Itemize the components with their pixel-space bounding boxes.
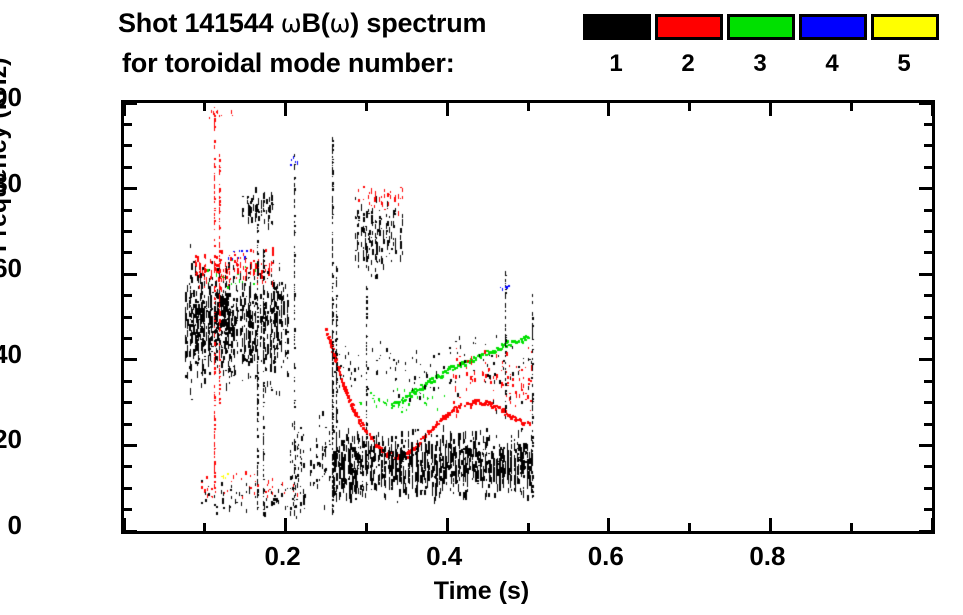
x-tick-minor — [850, 523, 853, 531]
y-tick-minor — [924, 123, 932, 126]
y-tick-label-20: 20 — [0, 424, 22, 455]
y-tick-minor — [124, 123, 132, 126]
title-shot-text: Shot 141544 — [118, 8, 281, 38]
x-tick-major-0.6 — [607, 518, 610, 531]
y-tick-major-0 — [124, 530, 137, 533]
figure-title-line-2: for toroidal mode number: — [122, 48, 455, 79]
title-spectrum-text: ) spectrum — [350, 8, 486, 38]
y-tick-major-20 — [124, 444, 137, 447]
y-tick-minor — [924, 401, 932, 404]
legend-swatch-4 — [799, 14, 867, 40]
y-tick-minor — [124, 337, 132, 340]
spectrogram-figure: Shot 141544 ωB(ω) spectrum for toroidal … — [0, 0, 963, 615]
y-tick-minor — [924, 337, 932, 340]
legend-swatch-1 — [583, 14, 651, 40]
x-tick-major-0.8 — [769, 518, 772, 531]
x-tick-minor — [365, 103, 368, 111]
x-tick-major-0 — [123, 518, 126, 531]
y-tick-label-40: 40 — [0, 339, 22, 370]
y-tick-minor — [124, 401, 132, 404]
legend-item-4: 4 — [799, 14, 867, 40]
x-tick-label-0.4: 0.4 — [394, 541, 494, 572]
legend-label-4: 4 — [798, 50, 866, 78]
y-tick-major-40 — [124, 358, 137, 361]
legend-label-1: 1 — [582, 50, 650, 78]
y-tick-minor — [924, 230, 932, 233]
x-tick-major-0.2 — [284, 103, 287, 116]
y-tick-minor — [924, 487, 932, 490]
y-tick-major-80 — [124, 187, 137, 190]
legend-swatch-5 — [871, 14, 939, 40]
legend-label-2: 2 — [654, 50, 722, 78]
x-axis-title: Time (s) — [0, 577, 963, 606]
y-tick-minor — [924, 316, 932, 319]
y-tick-minor — [124, 487, 132, 490]
y-tick-minor — [124, 294, 132, 297]
x-tick-major-0.4 — [446, 103, 449, 116]
y-tick-label-0: 0 — [8, 510, 22, 541]
y-tick-minor — [924, 251, 932, 254]
y-tick-minor — [924, 294, 932, 297]
y-tick-label-100: 100 — [0, 82, 22, 113]
title-b-open: B( — [301, 8, 329, 38]
y-tick-label-80: 80 — [0, 168, 22, 199]
x-tick-minor — [688, 523, 691, 531]
y-tick-major-100 — [124, 102, 137, 105]
x-tick-major-1 — [931, 103, 934, 116]
y-tick-minor — [124, 166, 132, 169]
x-tick-minor — [850, 103, 853, 111]
x-tick-major-0.4 — [446, 518, 449, 531]
x-tick-label-0.2: 0.2 — [233, 541, 333, 572]
y-tick-major-40 — [919, 358, 932, 361]
x-tick-minor — [527, 523, 530, 531]
legend-label-3: 3 — [726, 50, 794, 78]
legend-swatch-3 — [727, 14, 795, 40]
plot-area — [121, 100, 935, 534]
y-tick-minor — [124, 423, 132, 426]
omega-symbol-1: ω — [281, 9, 302, 38]
x-tick-minor — [527, 103, 530, 111]
legend-item-5: 5 — [871, 14, 939, 40]
y-tick-minor — [924, 423, 932, 426]
x-tick-label-0.8: 0.8 — [717, 541, 817, 572]
legend-item-1: 1 — [583, 14, 651, 40]
y-tick-minor — [124, 380, 132, 383]
y-tick-minor — [124, 465, 132, 468]
omega-symbol-2: ω — [330, 9, 351, 38]
x-tick-minor — [365, 523, 368, 531]
y-tick-minor — [124, 316, 132, 319]
x-tick-minor — [688, 103, 691, 111]
x-tick-major-0.2 — [284, 518, 287, 531]
y-tick-major-20 — [919, 444, 932, 447]
y-tick-minor — [924, 209, 932, 212]
spectrogram-canvas — [124, 103, 932, 531]
y-tick-minor — [924, 380, 932, 383]
x-tick-minor — [203, 523, 206, 531]
y-tick-minor — [124, 209, 132, 212]
y-tick-minor — [924, 144, 932, 147]
y-tick-minor — [124, 144, 132, 147]
x-tick-minor — [203, 103, 206, 111]
y-tick-label-60: 60 — [0, 253, 22, 284]
y-tick-minor — [124, 251, 132, 254]
y-tick-minor — [924, 166, 932, 169]
y-tick-major-80 — [919, 187, 932, 190]
figure-title-line-1: Shot 141544 ωB(ω) spectrum — [118, 8, 486, 39]
y-tick-minor — [124, 508, 132, 511]
legend-item-3: 3 — [727, 14, 795, 40]
y-tick-major-60 — [919, 273, 932, 276]
x-tick-label-0.6: 0.6 — [556, 541, 656, 572]
legend-swatch-2 — [655, 14, 723, 40]
y-tick-major-60 — [124, 273, 137, 276]
y-tick-minor — [924, 508, 932, 511]
legend-item-2: 2 — [655, 14, 723, 40]
y-tick-minor — [924, 465, 932, 468]
x-tick-major-0 — [123, 103, 126, 116]
x-tick-major-0.6 — [607, 103, 610, 116]
y-tick-minor — [124, 230, 132, 233]
legend-label-5: 5 — [870, 50, 938, 78]
x-tick-major-1 — [931, 518, 934, 531]
x-tick-major-0.8 — [769, 103, 772, 116]
